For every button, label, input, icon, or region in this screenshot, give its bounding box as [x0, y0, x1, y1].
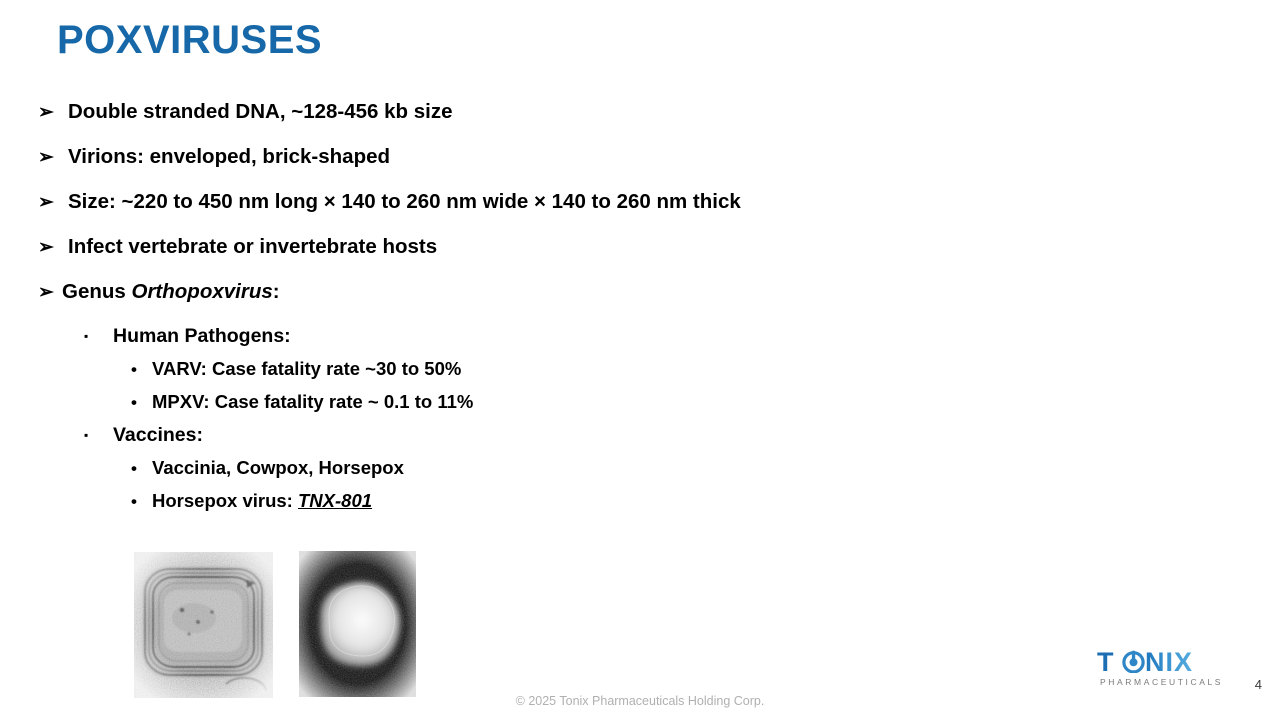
bullet-item: ▪Vaccines: [0, 424, 1280, 457]
bullet-text-italic: Orthopoxvirus [132, 280, 273, 303]
bullet-marker-icon: ➢ [38, 148, 68, 167]
bullet-text: Double stranded DNA, ~128-456 kb size [68, 100, 453, 124]
bullet-marker-icon: • [131, 493, 152, 510]
bullet-text-emphasis: TNX-801 [298, 490, 372, 511]
bullet-text: Vaccinia, Cowpox, Horsepox [152, 457, 404, 479]
bullet-marker-icon: • [131, 460, 152, 477]
bullet-item: •VARV: Case fatality rate ~30 to 50% [0, 358, 1280, 391]
page-title: POXVIRUSES [57, 18, 322, 63]
bullet-text-segment: Genus [62, 280, 132, 303]
bullet-item: ➢Genus Orthopoxvirus: [0, 280, 1280, 325]
page-number: 4 [1255, 677, 1262, 692]
transmission-electron-micrograph-poxvirus-virion [134, 552, 273, 698]
bullet-marker-icon: ➢ [38, 238, 68, 257]
logo-wordmark: T NIX [1097, 648, 1227, 676]
logo-letters-nix: NIX [1145, 648, 1193, 676]
bullet-list: ➢Double stranded DNA, ~128-456 kb size➢V… [0, 100, 1280, 523]
bullet-text-segment: Horsepox virus: [152, 490, 298, 511]
bullet-text: Size: ~220 to 450 nm long × 140 to 260 n… [68, 190, 741, 214]
bullet-text: VARV: Case fatality rate ~30 to 50% [152, 358, 461, 380]
bullet-text: Infect vertebrate or invertebrate hosts [68, 235, 437, 259]
bullet-marker-icon: • [131, 394, 152, 411]
bullet-text: Human Pathogens: [113, 325, 291, 348]
bullet-marker-icon: ➢ [38, 193, 68, 212]
footer-copyright: © 2025 Tonix Pharmaceuticals Holding Cor… [0, 694, 1280, 708]
bullet-marker-icon: • [131, 361, 152, 378]
bullet-item: ➢Double stranded DNA, ~128-456 kb size [0, 100, 1280, 145]
bullet-item: •MPXV: Case fatality rate ~ 0.1 to 11% [0, 391, 1280, 424]
bullet-text: Vaccines: [113, 424, 203, 447]
bullet-item: •Vaccinia, Cowpox, Horsepox [0, 457, 1280, 490]
bullet-item: ➢Size: ~220 to 450 nm long × 140 to 260 … [0, 190, 1280, 235]
bullet-text: Virions: enveloped, brick-shaped [68, 145, 390, 169]
bullet-item: •Horsepox virus: TNX-801 [0, 490, 1280, 523]
bullet-text: Horsepox virus: TNX-801 [152, 490, 372, 512]
bullet-text-segment: : [273, 280, 280, 303]
bullet-item: ➢Infect vertebrate or invertebrate hosts [0, 235, 1280, 280]
bullet-marker-icon: ➢ [38, 283, 62, 302]
bullet-item: ▪Human Pathogens: [0, 325, 1280, 358]
tonix-logo: T NIX PHARMACEUTICALS [1097, 648, 1227, 692]
slide-canvas: POXVIRUSES ➢Double stranded DNA, ~128-45… [0, 0, 1280, 720]
logo-letter-t: T [1097, 648, 1115, 676]
bullet-marker-icon: ➢ [38, 103, 68, 122]
negative-stain-micrograph-poxvirus-particle [299, 551, 416, 697]
bullet-text: Genus Orthopoxvirus: [62, 280, 280, 304]
logo-subtext: PHARMACEUTICALS [1100, 677, 1223, 687]
bullet-text: MPXV: Case fatality rate ~ 0.1 to 11% [152, 391, 473, 413]
bullet-item: ➢Virions: enveloped, brick-shaped [0, 145, 1280, 190]
bullet-marker-icon: ▪ [84, 429, 113, 441]
power-icon [1122, 650, 1145, 673]
bullet-marker-icon: ▪ [84, 330, 113, 342]
